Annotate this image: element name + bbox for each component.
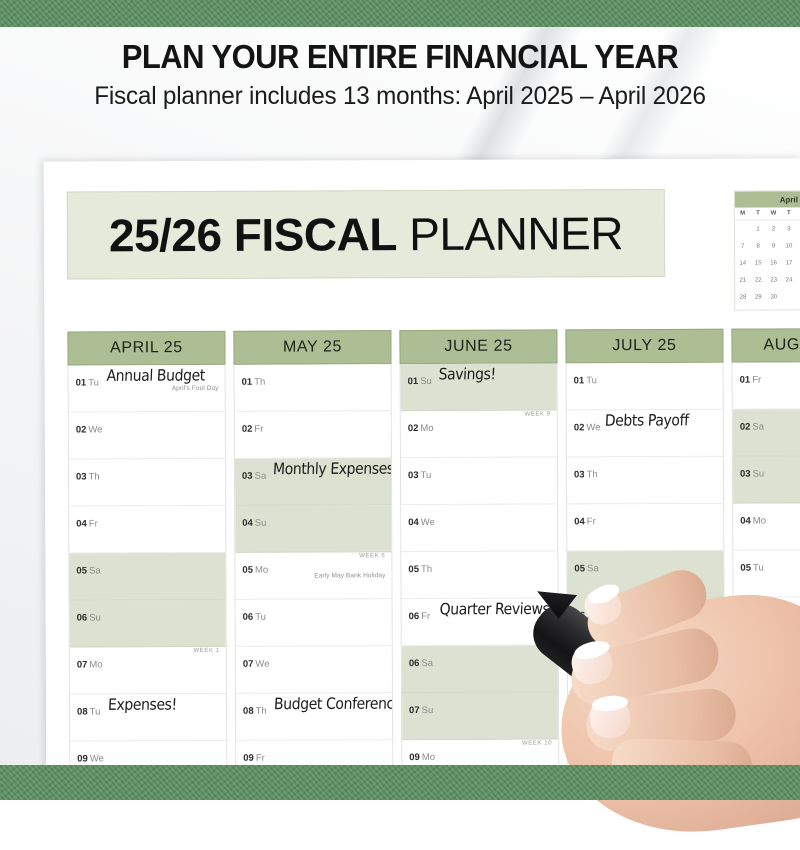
day-weekday: Tu [90,706,101,717]
mini-calendar-dow: F [797,210,800,216]
month-column: AUGUST 2501Fr02Sa03Su04MoSummer Bank Hol… [731,328,800,787]
day-number: 04 [740,516,751,527]
day-number: 04 [574,516,585,527]
day-number: 01 [574,375,585,386]
day-weekday: Mo [753,516,766,527]
mini-month-calendar[interactable]: April MTWTFSS 12345678910111213141516171… [734,190,800,310]
day-number: 05 [76,565,87,576]
day-number: 03 [408,470,419,481]
day-label: 05Sa [76,560,219,579]
day-number: 02 [408,423,419,434]
promo-subheadline: Fiscal planner includes 13 months: April… [12,82,788,111]
holiday-label: April's Fool Day [172,385,219,392]
day-number: 01 [408,376,419,387]
day-label: 01Tu [574,370,717,389]
planner-title-banner: 25/26 FISCAL PLANNER [67,189,665,280]
day-row[interactable]: 06Sa [402,645,558,693]
day-weekday: Su [587,610,599,621]
day-weekday: Th [587,469,598,480]
mini-calendar-day[interactable]: 24 [781,277,796,283]
day-row[interactable]: WEEK 902Mo [401,410,557,458]
day-number: 02 [242,424,253,435]
planner-title: 25/26 FISCAL PLANNER [109,206,623,262]
day-row[interactable]: 03Su [733,456,800,504]
day-label: 05Sa [574,558,717,577]
day-number: 05 [740,563,751,574]
day-weekday: Fr [752,375,761,386]
holiday-label: Early May Bank Holiday [314,572,385,579]
mini-calendar-week-row: 21222324252627 [735,271,800,288]
day-number: 06 [409,611,420,622]
day-row[interactable]: 03Th [69,459,225,507]
handwritten-note: Savings! [438,366,496,384]
day-label: 04Fr [574,511,717,530]
day-weekday: Th [254,377,265,388]
day-weekday: Mo [255,565,268,576]
day-weekday: Mo [587,657,600,668]
month-header[interactable]: AUGUST 25 [731,328,800,363]
month-column: MAY 2501Th02Fr03SaMonthly Expenses04SuWE… [233,330,393,787]
month-day-list: 01Th02Fr03SaMonthly Expenses04SuWEEK 505… [234,364,394,787]
day-weekday: Fr [587,516,596,527]
day-number: 07 [575,657,586,668]
day-label: 07Su [409,699,552,718]
day-number: 02 [740,422,751,433]
day-label: 09Fr [243,747,386,766]
day-weekday: Su [255,518,267,529]
day-row[interactable]: 06Tu [236,599,392,647]
day-row[interactable]: 02Fr [235,411,391,459]
day-number: 01 [740,375,751,386]
day-label: 05Tu [740,557,800,576]
day-label: 01Th [242,371,385,390]
day-row[interactable]: 05Tu [733,550,800,598]
day-row[interactable]: 07Su [402,692,558,740]
day-number: 08 [243,706,254,717]
day-label: 04We [408,511,551,530]
mini-calendar-week-row: 282930 [735,288,800,305]
day-weekday: Th [421,564,432,575]
day-label: 06Su [575,605,718,624]
mini-calendar-day[interactable]: 30 [766,294,781,300]
day-row[interactable]: 01TuAnnual BudgetApril's Fool Day [69,365,225,413]
day-number: 03 [76,471,87,482]
day-row[interactable]: 07Mo [568,645,724,693]
day-weekday: Sa [752,422,764,433]
mini-calendar-day[interactable]: 23 [766,277,781,283]
day-row[interactable]: 08Tu [568,692,724,740]
mini-calendar-week-row: 78910111213 [735,237,800,254]
handwritten-note: Quarter Reviews [439,600,550,618]
day-number: 05 [408,564,419,575]
day-row[interactable]: 06We [734,597,800,645]
day-row[interactable]: 03SaMonthly Expenses [235,458,391,506]
day-row[interactable]: 02We [69,412,225,460]
day-weekday: Th [753,657,764,668]
promo-headline: PLAN YOUR ENTIRE FINANCIAL YEAR [24,38,776,76]
handwritten-note: Debts Payoff [604,412,689,430]
mini-calendar-day[interactable]: 7 [735,243,750,249]
month-header[interactable]: APRIL 25 [67,331,225,366]
day-weekday: We [421,517,435,528]
mini-calendar-day[interactable]: 16 [766,260,781,266]
day-number: 06 [575,610,586,621]
day-label: 09We [575,746,718,765]
day-weekday: Su [422,705,434,716]
mini-calendar-day[interactable]: 22 [751,277,766,283]
mini-calendar-dow: W [766,210,781,216]
mini-calendar-month: April [735,191,800,207]
day-label: 06Sa [409,652,552,671]
day-label: 03Su [740,463,800,482]
mini-calendar-day[interactable]: 15 [750,260,765,266]
day-weekday: Fr [256,753,265,764]
day-number: 04 [242,518,253,529]
month-column: JUNE 2501SuSavings!WEEK 902Mo03Tu04We05T… [399,329,559,786]
day-label: 09We [77,748,220,767]
day-row[interactable]: 04Fr [69,506,225,554]
week-number-label: WEEK 10 [522,740,552,746]
mini-calendar-dow: T [750,211,765,217]
day-number: 07 [741,657,752,668]
planner-title-bold: 25/26 FISCAL [109,208,397,261]
day-number: 09 [243,753,254,764]
mini-calendar-weeks: 1234567891011121314151617181920212223242… [735,220,800,305]
mini-calendar-week-row: 14151617181920 [735,254,800,271]
handwritten-note: Monthly Expenses [273,460,394,478]
mini-calendar-day[interactable]: 2 [766,226,781,232]
day-label: 02Mo [408,417,551,436]
day-row[interactable]: 03Th [567,457,723,505]
day-number: 05 [574,563,585,574]
day-number: 06 [409,658,420,669]
day-row[interactable]: 07We [236,646,392,694]
day-weekday: Fr [754,704,763,715]
day-weekday: We [88,424,102,435]
day-row[interactable]: 04We [401,504,557,552]
day-label: 03Th [76,466,219,485]
day-number: 02 [76,424,87,435]
mini-calendar-day[interactable]: 14 [735,260,750,266]
day-label: 02Fr [242,418,385,437]
day-number: 08 [575,704,586,715]
day-row[interactable]: 04Fr [567,504,723,552]
day-label: 07Th [741,651,800,670]
day-number: 06 [243,612,254,623]
day-weekday: Su [753,469,765,480]
month-column: APRIL 2501TuAnnual BudgetApril's Fool Da… [67,331,227,787]
month-columns: APRIL 2501TuAnnual BudgetApril's Fool Da… [67,328,800,787]
day-label: 05Th [408,558,551,577]
day-label: 07We [243,653,386,672]
frame-border-bottom [0,765,800,800]
day-weekday: Th [256,706,267,717]
week-number-label: WEEK 5 [359,553,385,559]
day-label: 06We [741,604,800,623]
mini-calendar-day[interactable]: 17 [781,260,796,266]
day-weekday: Fr [254,424,263,435]
day-row[interactable]: 06Su [568,598,724,646]
handwritten-note: Expenses! [108,696,178,714]
day-label: 06Tu [243,606,386,625]
day-number: 06 [741,610,752,621]
day-weekday: Tu [255,612,266,623]
mini-calendar-day[interactable]: 21 [735,277,750,283]
day-row[interactable]: 01Th [235,364,391,412]
day-number: 05 [242,565,253,576]
day-row[interactable]: 05Sa [567,551,723,599]
month-column: JULY 2501Tu02WeDebts Payoff03Th04Fr05Sa0… [565,329,725,787]
mini-calendar-dow: M [735,211,750,217]
day-row[interactable]: 02WeDebts Payoff [567,410,723,458]
day-row[interactable]: 01Tu [567,363,723,411]
day-number: 02 [574,422,585,433]
day-row[interactable]: 08Fr [734,691,800,739]
handwritten-note: Annual Budget [106,367,205,385]
promo-header: PLAN YOUR ENTIRE FINANCIAL YEAR Fiscal p… [0,38,800,111]
day-row[interactable]: WEEK 505MoEarly May Bank Holiday [235,552,391,600]
day-label: 02Sa [740,416,800,435]
day-weekday: Th [89,471,100,482]
day-number: 09 [77,753,88,764]
day-label: 07Mo [575,652,718,671]
day-number: 07 [409,705,420,716]
month-header[interactable]: JULY 25 [565,329,723,364]
day-number: 08 [77,706,88,717]
month-day-list: 01TuAnnual BudgetApril's Fool Day02We03T… [68,365,228,787]
day-label: 09Mo [409,746,552,765]
day-weekday: Tu [421,470,432,481]
day-row[interactable]: 05Sa [69,553,225,601]
day-label: 04Su [242,512,385,531]
week-number-label: WEEK 1 [193,648,219,654]
day-number: 06 [77,612,88,623]
mini-calendar-day[interactable]: 28 [735,294,750,300]
month-header[interactable]: JUNE 25 [399,329,557,364]
day-label: 08Fr [741,698,800,717]
day-number: 04 [408,517,419,528]
day-weekday: Fr [89,518,98,529]
mini-calendar-day[interactable]: 9 [766,243,781,249]
day-number: 09 [409,752,420,763]
day-number: 09 [575,751,586,762]
day-number: 01 [242,377,253,388]
day-row[interactable]: 06Su [70,600,226,648]
day-weekday: Tu [753,563,764,574]
day-row[interactable]: 08TuExpenses! [70,694,226,742]
day-weekday: Sa [89,565,101,576]
day-number: 08 [741,704,752,715]
month-header[interactable]: MAY 25 [233,330,391,365]
day-row[interactable]: 05Th [401,551,557,599]
day-number: 03 [574,469,585,480]
day-weekday: Su [420,376,432,387]
mini-calendar-day[interactable]: 1 [750,226,765,232]
day-weekday: Tu [588,704,599,715]
mini-calendar-day[interactable]: 3 [781,226,796,232]
day-row[interactable]: 08ThBudget Conference [236,693,392,741]
day-weekday: Fr [421,611,430,622]
planner-sheet: 25/26 FISCAL PLANNER April MTWTFSS 12345… [44,158,800,786]
mini-calendar-week-row: 123456 [735,220,800,237]
day-weekday: Mo [89,659,102,670]
frame-border-top [0,0,800,27]
day-row[interactable]: 03Tu [401,457,557,505]
day-label: 07Mo [77,654,220,673]
week-number-label: WEEK 9 [524,411,550,417]
day-row[interactable]: 07Th [734,644,800,692]
day-number: 03 [242,471,253,482]
day-weekday: Sa [255,471,267,482]
day-weekday: Mo [422,752,435,763]
day-row[interactable]: 04MoSummer Bank Holiday [733,503,800,551]
day-number: 03 [740,469,751,480]
day-row[interactable]: 01Fr [733,362,800,410]
day-number: 04 [76,518,87,529]
mini-calendar-day[interactable]: 4 [797,226,800,232]
day-weekday: Sa [754,751,766,762]
day-weekday: We [753,610,767,621]
day-row[interactable]: 01SuSavings! [401,363,557,411]
mini-calendar-day[interactable]: 29 [751,294,766,300]
day-label: 04Fr [76,513,219,532]
day-number: 09 [741,751,752,762]
day-label: 08Tu [575,699,718,718]
day-row[interactable]: 02Sa [733,409,800,457]
day-row[interactable]: WEEK 107Mo [70,647,226,695]
day-weekday: We [255,659,269,670]
day-row[interactable]: 04Su [235,505,391,553]
mini-calendar-weekday-row: MTWTFSS [735,207,800,220]
day-weekday: Sa [421,658,433,669]
day-label: 03Tu [408,464,551,483]
day-weekday: Sa [587,563,599,574]
day-label: 09Sa [741,745,800,764]
day-label: 01Fr [740,369,800,388]
day-label: 06Su [77,607,220,626]
day-row[interactable]: 06FrQuarter Reviews [402,598,558,646]
day-label: 03Th [574,464,717,483]
day-weekday: We [586,422,600,433]
planner-title-light: PLANNER [397,207,623,260]
day-weekday: We [588,751,602,762]
day-number: 01 [76,377,87,388]
day-label: 04Mo [740,510,800,529]
day-number: 07 [77,659,88,670]
day-label: 02We [76,419,219,438]
mini-calendar-day[interactable]: 8 [750,243,765,249]
mini-calendar-day[interactable]: 10 [781,243,796,249]
handwritten-note: Budget Conference [274,695,394,713]
day-weekday: Tu [586,375,597,386]
day-weekday: Su [89,612,101,623]
month-day-list: 01SuSavings!WEEK 902Mo03Tu04We05Th06FrQu… [400,363,560,786]
day-number: 07 [243,659,254,670]
mini-calendar-dow: T [781,210,796,216]
day-weekday: We [90,753,104,764]
day-weekday: Mo [420,423,433,434]
day-weekday: Tu [88,377,99,388]
month-day-list: 01Fr02Sa03Su04MoSummer Bank Holiday05Tu0… [732,362,800,787]
month-day-list: 01Tu02WeDebts Payoff03Th04Fr05Sa06Su07Mo… [566,363,726,787]
